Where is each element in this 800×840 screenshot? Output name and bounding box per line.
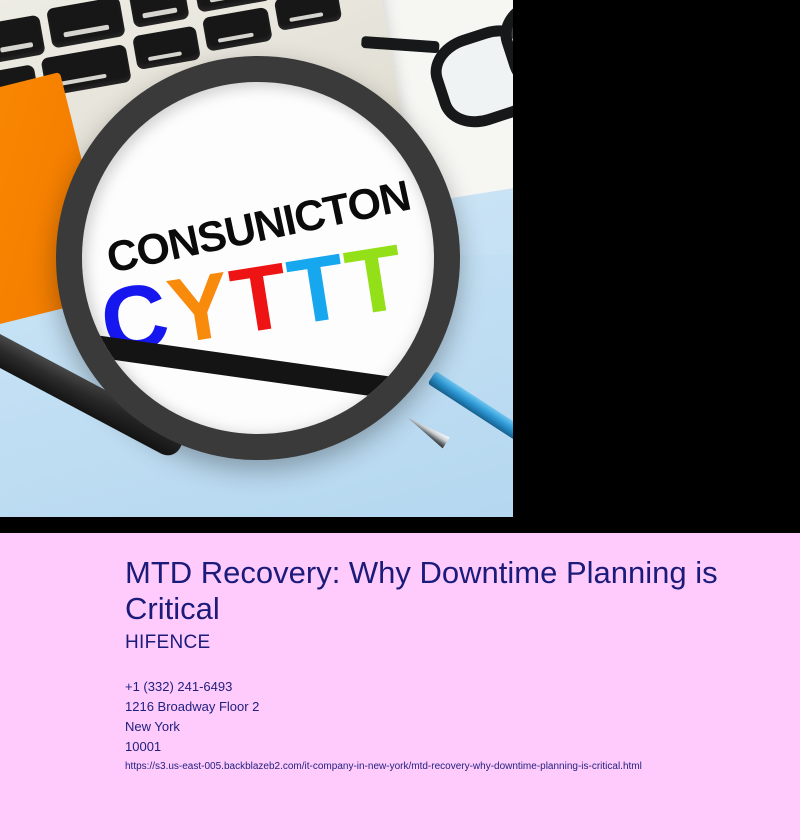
keyboard-key bbox=[128, 0, 190, 28]
contact-postal-code: 10001 bbox=[125, 737, 745, 757]
hero-media-band: CONSUNICTON CYTTT bbox=[0, 0, 800, 533]
keyboard-key bbox=[46, 0, 126, 49]
contact-street: 1216 Broadway Floor 2 bbox=[125, 697, 745, 717]
contact-city: New York bbox=[125, 717, 745, 737]
hero-photo: CONSUNICTON CYTTT bbox=[0, 0, 513, 517]
brand-name: HIFENCE bbox=[125, 632, 211, 654]
contact-phone: +1 (332) 241-6493 bbox=[125, 677, 745, 697]
keyboard-key bbox=[132, 26, 201, 71]
magnifier-lens: CONSUNICTON CYTTT bbox=[56, 56, 460, 460]
contact-block: +1 (332) 241-6493 1216 Broadway Floor 2 … bbox=[125, 677, 745, 757]
black-fill-right bbox=[513, 0, 800, 533]
page-title: MTD Recovery: Why Downtime Planning is C… bbox=[125, 555, 765, 627]
content-panel: MTD Recovery: Why Downtime Planning is C… bbox=[0, 533, 800, 840]
keyboard-key bbox=[202, 7, 273, 52]
black-fill-bottom bbox=[0, 517, 513, 533]
keyboard-key bbox=[274, 0, 343, 31]
keyboard-key bbox=[0, 15, 46, 64]
source-url[interactable]: https://s3.us-east-005.backblazeb2.com/i… bbox=[125, 760, 642, 774]
